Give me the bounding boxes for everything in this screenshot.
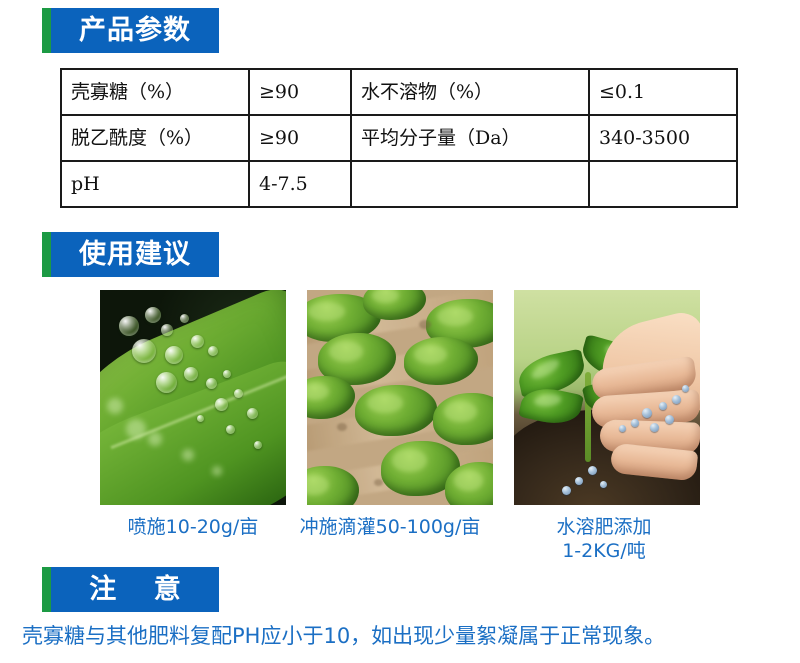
spec-value-cell: 340-3500 (589, 115, 737, 161)
fertilizer-granule (631, 419, 639, 427)
section-title-usage: 使用建议 (79, 241, 191, 268)
water-drop-icon (184, 367, 198, 381)
water-drop-icon (119, 316, 139, 336)
fertilizer-granule (600, 481, 607, 488)
accent-bar-green (42, 8, 51, 53)
water-drop-icon (132, 339, 156, 363)
accent-bar-green (42, 232, 51, 277)
notice-body-text: 壳寡糖与其他肥料复配PH应小于10，如出现少量絮凝属于正常现象。 (22, 623, 782, 650)
water-drop-icon (197, 415, 204, 422)
water-drop-icon (180, 314, 189, 323)
spec-table: 壳寡糖（%） ≥90 水不溶物（%） ≤0.1 脱乙酰度（%） ≥90 平均分子… (60, 68, 738, 208)
section-header-product: 产品参数 (42, 8, 219, 53)
photo-caption: 冲施滴灌50-100g/亩 (290, 516, 490, 540)
section-title-product: 产品参数 (79, 17, 191, 44)
water-drop-icon (208, 346, 218, 356)
leaf-scene (100, 290, 286, 505)
bokeh-dot (107, 398, 123, 414)
table-row: 脱乙酰度（%） ≥90 平均分子量（Da） 340-3500 (61, 115, 737, 161)
crop-plant (307, 376, 355, 419)
water-drop-icon (254, 441, 262, 449)
water-drop-icon (165, 346, 183, 364)
section-header-usage: 使用建议 (42, 232, 219, 277)
water-drop-icon (156, 372, 177, 393)
spec-name-cell: 脱乙酰度（%） (61, 115, 249, 161)
photo-hand-fertilizer (514, 290, 700, 505)
accent-bar-green (42, 567, 51, 612)
bokeh-dot (126, 419, 146, 439)
banner-plate-blue: 使用建议 (51, 232, 219, 277)
spec-value-cell: ≥90 (249, 69, 351, 115)
section-title-notice: 注 意 (89, 576, 181, 603)
table-row: 壳寡糖（%） ≥90 水不溶物（%） ≤0.1 (61, 69, 737, 115)
crop-plant (433, 393, 493, 445)
fertilizer-granule (659, 402, 667, 410)
spec-value-cell: ≤0.1 (589, 69, 737, 115)
spec-empty-cell (351, 161, 589, 207)
photo-crop-field (307, 290, 493, 505)
spec-name-cell: 水不溶物（%） (351, 69, 589, 115)
table-row: pH 4-7.5 (61, 161, 737, 207)
water-drop-icon (145, 307, 161, 323)
spec-name-cell: 壳寡糖（%） (61, 69, 249, 115)
fertilizer-granule (562, 486, 571, 495)
fertilizer-granule (642, 408, 652, 418)
water-drop-icon (215, 398, 228, 411)
spec-name-cell: pH (61, 161, 249, 207)
hand-scene (514, 290, 700, 505)
field-scene (307, 290, 493, 505)
crop-plant (404, 337, 478, 384)
bokeh-dot (212, 466, 222, 476)
bokeh-dot (182, 449, 194, 461)
banner-plate-blue: 产品参数 (51, 8, 219, 53)
fertilizer-granule (665, 415, 674, 424)
banner-plate-blue: 注 意 (51, 567, 219, 612)
photo-row (100, 290, 700, 505)
spec-value-cell: 4-7.5 (249, 161, 351, 207)
soil-pebble (419, 320, 431, 329)
photo-caption: 喷施10-20g/亩 (100, 516, 286, 540)
spec-empty-cell (589, 161, 737, 207)
photo-dewy-leaf (100, 290, 286, 505)
fertilizer-granule (682, 385, 689, 392)
photo-caption: 水溶肥添加 1-2KG/吨 (508, 516, 700, 564)
spec-name-cell: 平均分子量（Da） (351, 115, 589, 161)
section-header-notice: 注 意 (42, 567, 219, 612)
water-drop-icon (234, 389, 243, 398)
water-drop-icon (223, 370, 231, 378)
spec-value-cell: ≥90 (249, 115, 351, 161)
